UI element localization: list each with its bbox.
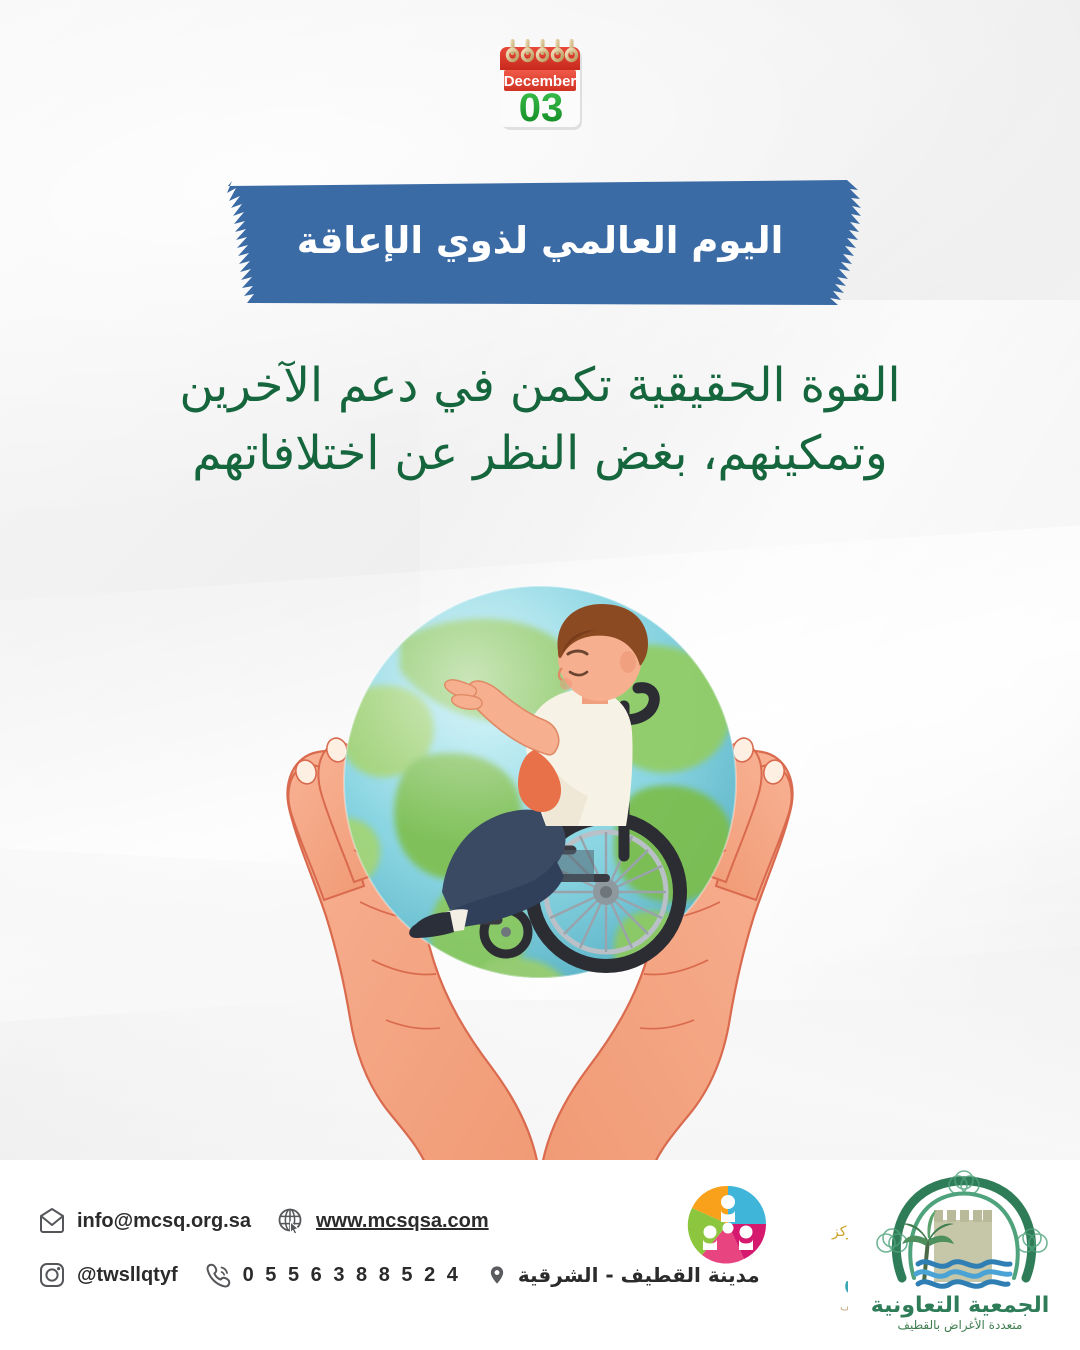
contact-row-2: @twsllqtyf 0 5 5 6 3 8 8 5 2 4 مد: [38, 1254, 760, 1296]
website-item[interactable]: www.mcsqsa.com: [277, 1207, 489, 1235]
puzzle-circle-icon: [688, 1186, 766, 1264]
website-text: www.mcsqsa.com: [316, 1210, 489, 1233]
email-text: info@mcsq.org.sa: [77, 1210, 251, 1233]
contact-row-1: info@mcsq.org.sa www.mcsqsa.com: [38, 1200, 760, 1242]
location-pin-icon: [487, 1261, 507, 1289]
title-banner: اليوم العالمي لذوي الإعاقة: [218, 174, 862, 310]
email-item[interactable]: info@mcsq.org.sa: [38, 1207, 251, 1235]
calendar-day-label: 03: [519, 86, 564, 130]
footer: info@mcsq.org.sa www.mcsqsa.com: [0, 1160, 1080, 1350]
banner-title-text: اليوم العالمي لذوي الإعاقة: [218, 174, 862, 310]
society-name: الجمعية التعاونية: [871, 1293, 1050, 1318]
slogan-line-2: وتمكينهم، بغض النظر عن اختلافاتهم: [90, 420, 990, 488]
slogan-text: القوة الحقيقية تكمن في دعم الآخرين وتمكي…: [90, 352, 990, 488]
tawasul-tagline: لرعاية النهارية بالقطيف: [840, 1300, 848, 1313]
phone-item[interactable]: 0 5 5 6 3 8 8 5 2 4: [204, 1261, 461, 1289]
tawasul-center-logo: مركز نـواصـل لرعاية النهارية بالقطيف: [672, 1178, 848, 1328]
tawasul-word: مركز: [831, 1224, 848, 1240]
poster-canvas: December: [0, 0, 1080, 1350]
phone-icon: [204, 1261, 232, 1289]
contact-info: info@mcsq.org.sa www.mcsqsa.com: [38, 1200, 760, 1296]
instagram-icon: [38, 1261, 66, 1289]
tawasul-name: نـواصـل: [842, 1245, 848, 1299]
instagram-item[interactable]: @twsllqtyf: [38, 1261, 178, 1289]
instagram-text: @twsllqtyf: [77, 1264, 178, 1287]
calendar-icon: December: [489, 36, 591, 138]
slogan-line-1: القوة الحقيقية تكمن في دعم الآخرين: [90, 352, 990, 420]
envelope-icon: [38, 1207, 66, 1235]
cooperative-society-logo: الجمعية التعاونية متعددة الأغراض بالقطيف: [862, 1166, 1058, 1336]
globe-icon: [277, 1207, 305, 1235]
society-tagline: متعددة الأغراض بالقطيف: [898, 1317, 1023, 1333]
hands-holding-globe-illustration: [210, 520, 870, 1180]
phone-text: 0 5 5 6 3 8 8 5 2 4: [243, 1264, 461, 1287]
